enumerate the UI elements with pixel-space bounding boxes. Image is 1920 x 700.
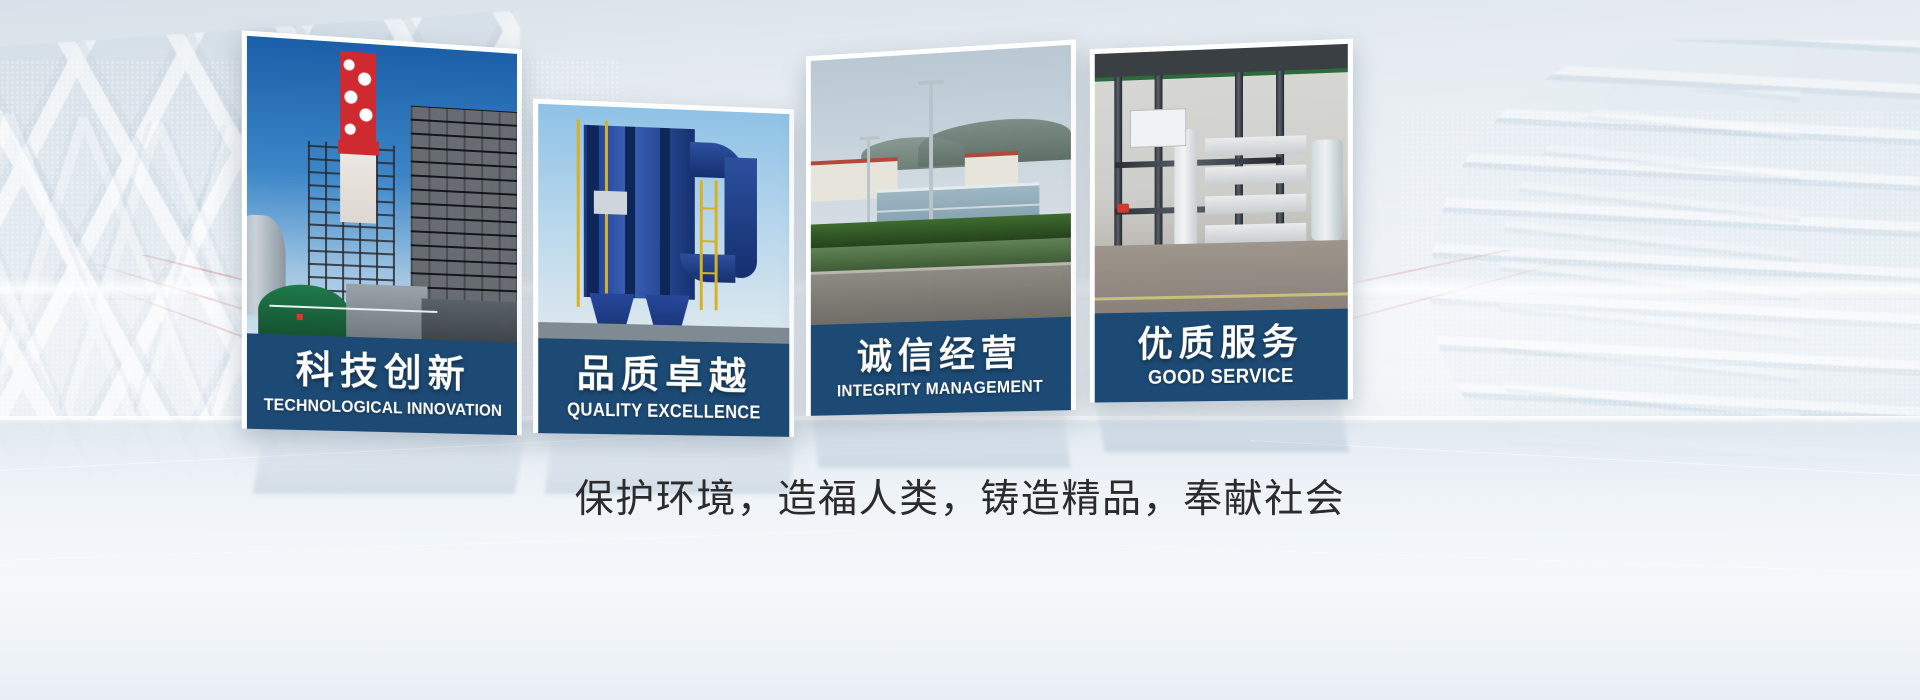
panel-photo-integrity-management [811,45,1071,325]
panel-title-cn-2: 品质卓越 [577,355,753,396]
banner-stage: 科技创新 TECHNOLOGICAL INNOVATION [0,0,1920,700]
panel-title-en-4: GOOD SERVICE [1148,366,1294,388]
panel-quality-excellence[interactable]: 品质卓越 QUALITY EXCELLENCE [533,99,794,437]
panel-good-service[interactable]: 优质服务 GOOD SERVICE [1090,39,1353,403]
feature-panel-group: 科技创新 TECHNOLOGICAL INNOVATION [0,0,1920,700]
panel-photo-good-service [1095,44,1348,314]
panel-title-cn-3: 诚信经营 [857,334,1023,375]
panel-photo-technological-innovation [247,36,517,343]
panel-title-cn-4: 优质服务 [1137,323,1303,362]
banner-tagline: 保护环境，造福人类，铸造精品，奉献社会 [0,468,1920,524]
panel-caption-good-service: 优质服务 GOOD SERVICE [1095,309,1348,403]
panel-caption-quality-excellence: 品质卓越 QUALITY EXCELLENCE [538,338,789,437]
panel-caption-technological-innovation: 科技创新 TECHNOLOGICAL INNOVATION [247,333,517,435]
panel-title-en-3: INTEGRITY MANAGEMENT [837,377,1043,399]
panel-title-cn-1: 科技创新 [296,351,471,394]
panel-integrity-management[interactable]: 诚信经营 INTEGRITY MANAGEMENT [806,39,1076,415]
panel-photo-quality-excellence [538,104,789,344]
panel-title-en-1: TECHNOLOGICAL INNOVATION [263,396,501,419]
panel-title-en-2: QUALITY EXCELLENCE [567,400,761,421]
panel-technological-innovation[interactable]: 科技创新 TECHNOLOGICAL INNOVATION [242,30,522,435]
panel-caption-integrity-management: 诚信经营 INTEGRITY MANAGEMENT [811,317,1071,416]
